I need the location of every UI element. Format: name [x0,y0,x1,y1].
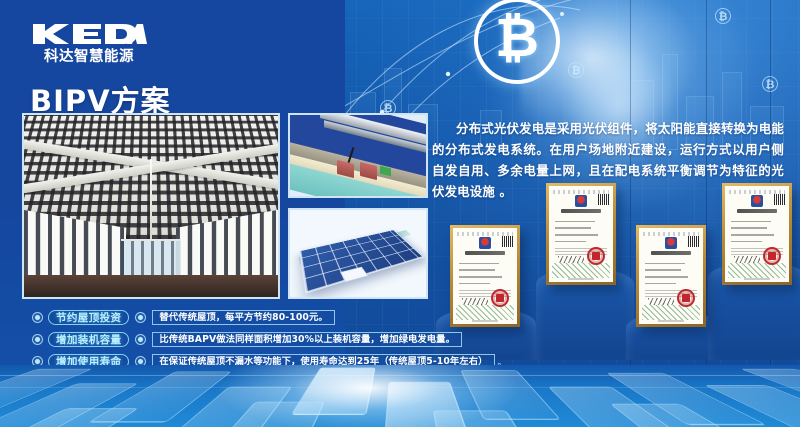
mounting-detail-diagram [288,113,428,198]
feature-desc: 替代传统屋顶，每平方节约80-100元。 [152,310,334,325]
certificate-frame[interactable] [450,225,520,327]
certificates-stage [440,185,800,360]
feature-row: 节约屋顶投资 替代传统屋顶，每平方节约80-100元。 [32,309,432,326]
brand-logo[interactable]: 科达智慧能源 [28,22,150,65]
certificate-frame[interactable] [722,183,792,285]
bottom-tile-strip [0,365,800,427]
brand-name-cn: 科达智慧能源 [28,50,150,65]
bullet-dot-icon [135,312,146,323]
certificate-frame[interactable] [636,225,706,327]
slide-canvas: ₿ ₿ ₿ ₿ ₿ 科达智慧能源 BIPV方案 [0,0,800,427]
bitcoin-mini-icon-1: ₿ [715,8,731,24]
bullet-dot-icon [32,334,43,345]
bullet-dot-icon [135,334,146,345]
feature-tag: 增加装机容量 [48,332,129,347]
bitcoin-glyph: ₿ [495,11,539,65]
bitcoin-mini-icon-4: ₿ [568,62,584,78]
keda-wordmark-icon [31,22,147,46]
feature-row: 增加装机容量 比传统BAPV做法同样面积增加30%以上装机容量，增加绿电发电量。 [32,331,432,348]
bullet-dot-icon [32,312,43,323]
panel-array-diagram [288,208,428,299]
bitcoin-icon: ₿ [474,0,560,84]
feature-tag: 节约屋顶投资 [48,310,129,325]
certificate-frame[interactable] [546,183,616,285]
feature-desc: 比传统BAPV做法同样面积增加30%以上装机容量，增加绿电发电量。 [152,332,462,347]
atrium-photo [22,113,280,299]
